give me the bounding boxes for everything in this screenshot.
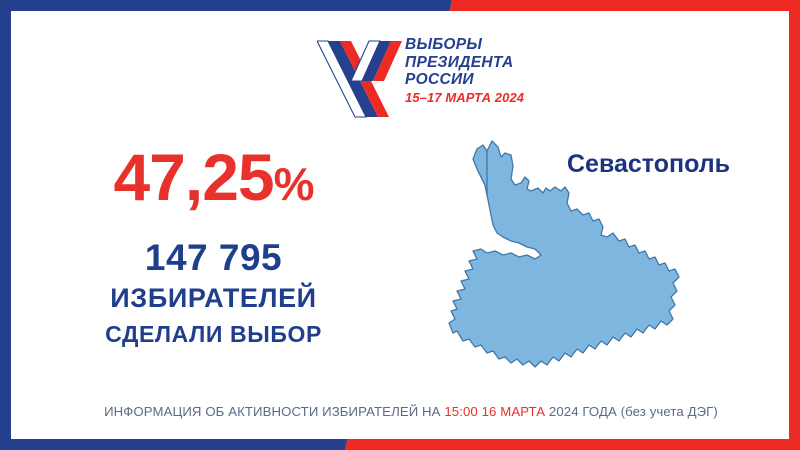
turnout-percent: 47,25% [41, 141, 386, 220]
footer-info-line: ИНФОРМАЦИЯ ОБ АКТИВНОСТИ ИЗБИРАТЕЛЕЙ НА … [11, 404, 800, 419]
logo-election-dates: 15–17 МАРТА 2024 [405, 90, 523, 106]
footer-prefix: ИНФОРМАЦИЯ ОБ АКТИВНОСТИ ИЗБИРАТЕЛЕЙ НА [104, 404, 444, 419]
logo-line-3: РОССИИ [405, 71, 523, 89]
white-content-panel: ВЫБОРЫ ПРЕЗИДЕНТА РОССИИ 15–17 МАРТА 202… [11, 11, 789, 439]
region-name-label: Севастополь [567, 149, 730, 179]
turnout-percent-value: 47,25 [113, 140, 273, 214]
percent-sign: % [274, 158, 314, 210]
turnout-statistics: 47,25% 147 795 ИЗБИРАТЕЛЕЙ СДЕЛАЛИ ВЫБОР [41, 141, 386, 348]
made-choice-label: СДЕЛАЛИ ВЫБОР [41, 320, 386, 348]
logo-wordmark: ВЫБОРЫ ПРЕЗИДЕНТА РОССИИ 15–17 МАРТА 202… [405, 36, 523, 106]
footer-suffix: 2024 ГОДА (без учета ДЭГ) [545, 404, 718, 419]
logo-line-2: ПРЕЗИДЕНТА [405, 54, 523, 72]
voters-label: ИЗБИРАТЕЛЕЙ [41, 282, 386, 314]
tricolor-v-emblem-icon [317, 39, 403, 119]
election-logo: ВЫБОРЫ ПРЕЗИДЕНТА РОССИИ 15–17 МАРТА 202… [317, 33, 517, 125]
voter-count: 147 795 [41, 236, 386, 280]
election-turnout-poster: ВЫБОРЫ ПРЕЗИДЕНТА РОССИИ 15–17 МАРТА 202… [0, 0, 800, 450]
logo-line-1: ВЫБОРЫ [405, 36, 523, 54]
footer-timestamp: 15:00 16 МАРТА [444, 404, 545, 419]
